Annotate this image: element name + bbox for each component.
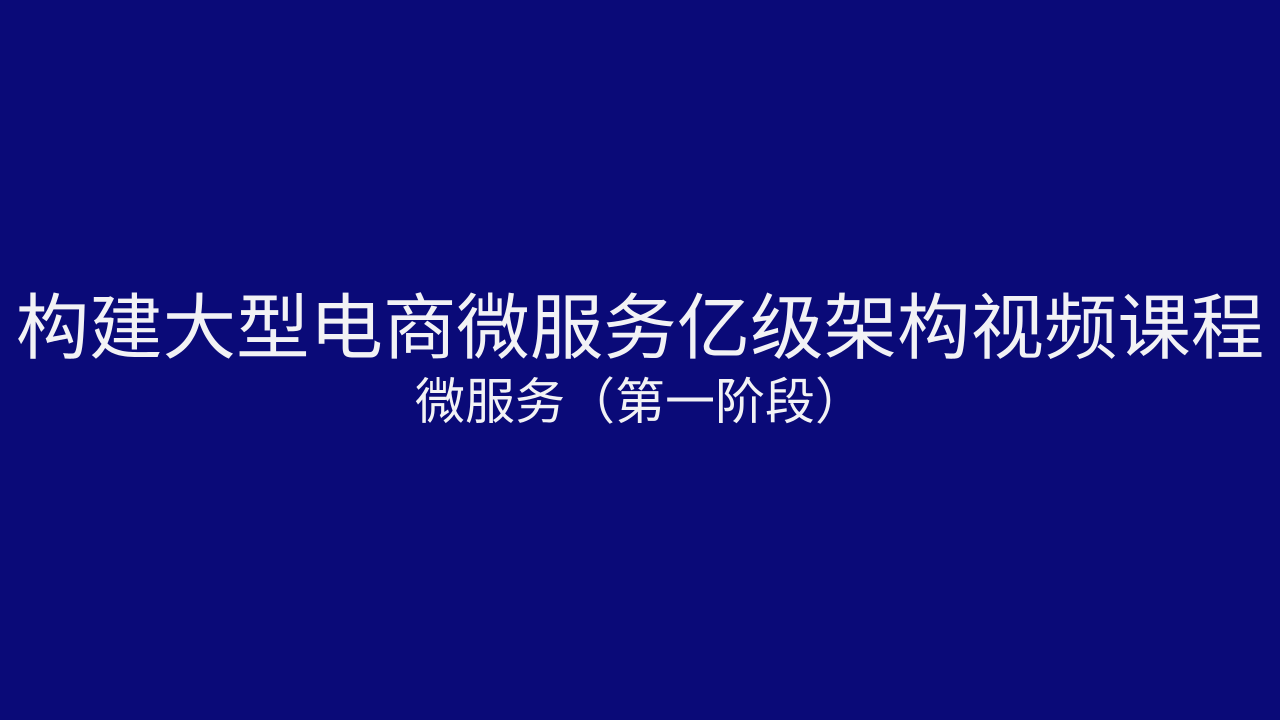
- page-subtitle: 微服务（第一阶段）: [0, 374, 1280, 430]
- page-title: 构建大型电商微服务亿级架构视频课程: [0, 288, 1280, 368]
- title-slide: 构建大型电商微服务亿级架构视频课程 微服务（第一阶段）: [0, 0, 1280, 720]
- title-block: 构建大型电商微服务亿级架构视频课程 微服务（第一阶段）: [0, 288, 1280, 430]
